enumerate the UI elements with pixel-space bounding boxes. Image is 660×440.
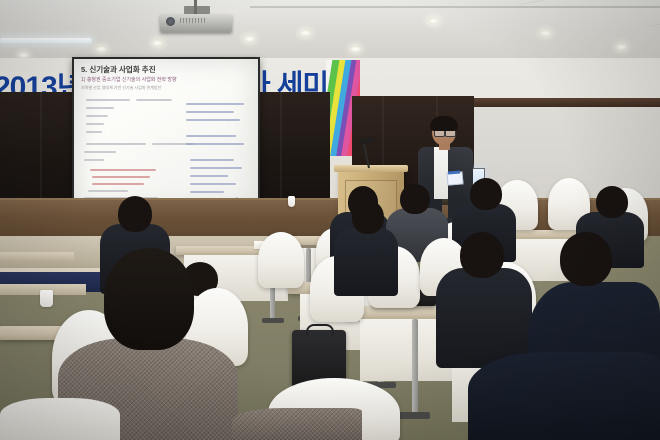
- strip-light: [0, 38, 92, 43]
- table-foot: [262, 318, 284, 323]
- podium-top: [334, 165, 408, 172]
- ceiling-projector: [160, 6, 232, 32]
- slide-title: 5. 신기술과 사업화 추진: [81, 64, 156, 75]
- attendee-foreground-shoulder: [232, 408, 362, 440]
- attendee-center-back-head: [352, 200, 384, 234]
- ceiling-seam: [250, 6, 660, 8]
- projector-mount: [184, 6, 210, 14]
- downlight: [428, 18, 439, 24]
- table-leg: [412, 319, 418, 417]
- downlight: [540, 30, 551, 36]
- downlight: [96, 46, 107, 52]
- projection-screen: 5. 신기술과 사업화 추진 1) 충청권 중소기업 신기술의 사업화 전략 방…: [72, 57, 260, 213]
- table-foot: [398, 412, 430, 419]
- attendee-corner-body: [468, 352, 660, 440]
- projector-vent-icon: [180, 18, 206, 23]
- slide-subtitle: 1) 충청권 중소기업 신기술의 사업화 전략 방향: [81, 76, 177, 83]
- paper-cup: [40, 290, 53, 307]
- attendee-center-mid-head: [400, 184, 430, 214]
- table: [0, 252, 74, 262]
- attendee-right-front-head: [560, 232, 612, 286]
- downlight: [350, 46, 361, 52]
- seminar-room-photo: 2013년 가 세미나 5. 신기술과 사업화 추진 1) 충청권 중소기업 신…: [0, 0, 660, 440]
- ceiling: [0, 0, 660, 62]
- attendee-row2-right-head: [460, 232, 504, 278]
- projector-lens-icon: [166, 17, 175, 26]
- attendee-right-mid-head: [470, 178, 502, 210]
- attendee-left-back-head: [118, 196, 152, 232]
- attendee-row2-right-body: [436, 268, 532, 368]
- water-bottle: [288, 196, 295, 207]
- slide-subtitle-2: 지역별 산업 생태계 기반 신기술 사업화 연계방안: [81, 85, 161, 91]
- attendee-front-tweed-head: [104, 248, 194, 350]
- chair-foreground-left: [0, 398, 120, 440]
- chair: [258, 232, 304, 288]
- briefcase-handle: [306, 324, 334, 336]
- downlight: [300, 30, 311, 36]
- attendee-center-back-body: [334, 228, 398, 296]
- projector-arm: [194, 0, 197, 14]
- downlight: [616, 44, 627, 50]
- downlight: [244, 36, 255, 42]
- downlight: [152, 40, 163, 46]
- attendee-far-right-head: [596, 186, 628, 218]
- presenter-hair: [430, 116, 458, 131]
- projected-slide: 5. 신기술과 사업화 추진 1) 충청권 중소기업 신기술의 사업화 전략 방…: [74, 59, 258, 211]
